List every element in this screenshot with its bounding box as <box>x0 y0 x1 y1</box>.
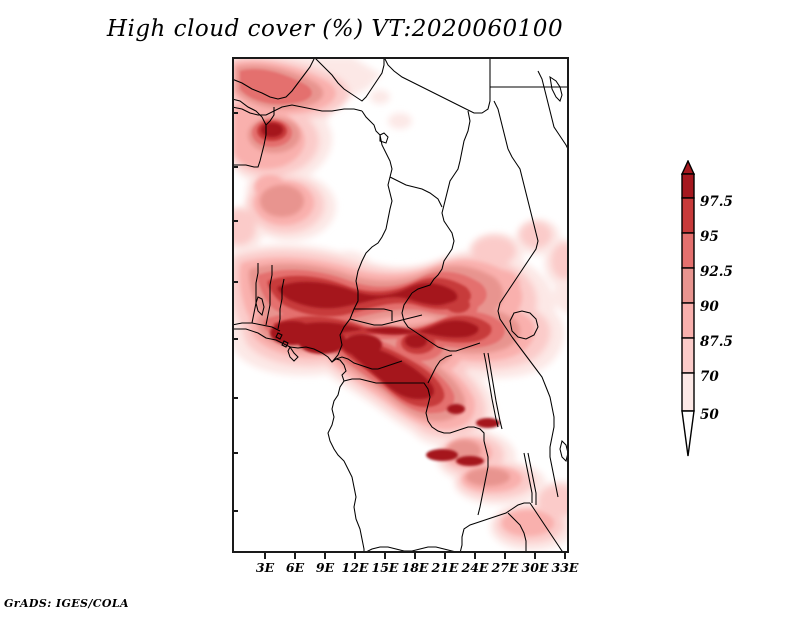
x-label-33E: 33E <box>535 560 595 575</box>
x-tick-3E <box>264 553 266 559</box>
y-tick-EQ <box>232 338 238 340</box>
y-tick-5S <box>232 397 238 399</box>
colorbar-band-above-97[interactable] <box>682 161 694 174</box>
colorbar-label-92-5: 92.5 <box>700 264 733 280</box>
y-tick-15N <box>232 166 238 168</box>
x-tick-15E <box>384 553 386 559</box>
colorbar-band-87-90[interactable] <box>682 303 694 338</box>
y-tick-20N <box>232 112 238 114</box>
colorbar-band-90-92[interactable] <box>682 268 694 303</box>
x-tick-27E <box>504 553 506 559</box>
x-tick-33E <box>564 553 566 559</box>
y-tick-10S <box>232 452 238 454</box>
colorbar-label-70: 70 <box>700 369 719 385</box>
colorbar-band-92-95[interactable] <box>682 233 694 268</box>
grads-attribution: GrADS: IGES/COLA <box>4 597 129 610</box>
colorbar-label-50: 50 <box>700 407 719 423</box>
x-tick-24E <box>474 553 476 559</box>
colorbar-label-90: 90 <box>700 299 719 315</box>
colorbar-band-70-87[interactable] <box>682 338 694 373</box>
x-tick-18E <box>414 553 416 559</box>
colorbar-label-97-5: 97.5 <box>700 194 733 210</box>
x-tick-30E <box>534 553 536 559</box>
y-tick-5N <box>232 281 238 283</box>
colorbar-label-87-5: 87.5 <box>700 334 733 350</box>
y-tick-10N <box>232 220 238 222</box>
colorbar-band-below-50[interactable] <box>682 411 694 456</box>
colorbar-label-95: 95 <box>700 229 719 245</box>
x-tick-6E <box>294 553 296 559</box>
grads-plot-canvas: High cloud cover (%) VT:2020060100 <box>0 0 800 618</box>
x-tick-9E <box>324 553 326 559</box>
plot-frame <box>232 57 569 553</box>
y-tick-15S <box>232 510 238 512</box>
page-title: High cloud cover (%) VT:2020060100 <box>0 16 670 42</box>
x-tick-21E <box>444 553 446 559</box>
colorbar-band-95-97[interactable] <box>682 198 694 233</box>
colorbar-band-50-70[interactable] <box>682 373 694 411</box>
colorbar[interactable]: 97.5 95 92.5 90 87.5 70 50 <box>660 160 800 470</box>
colorbar-band-above-97-body[interactable] <box>682 174 694 198</box>
x-tick-12E <box>354 553 356 559</box>
map-plot-area[interactable] <box>232 57 569 553</box>
